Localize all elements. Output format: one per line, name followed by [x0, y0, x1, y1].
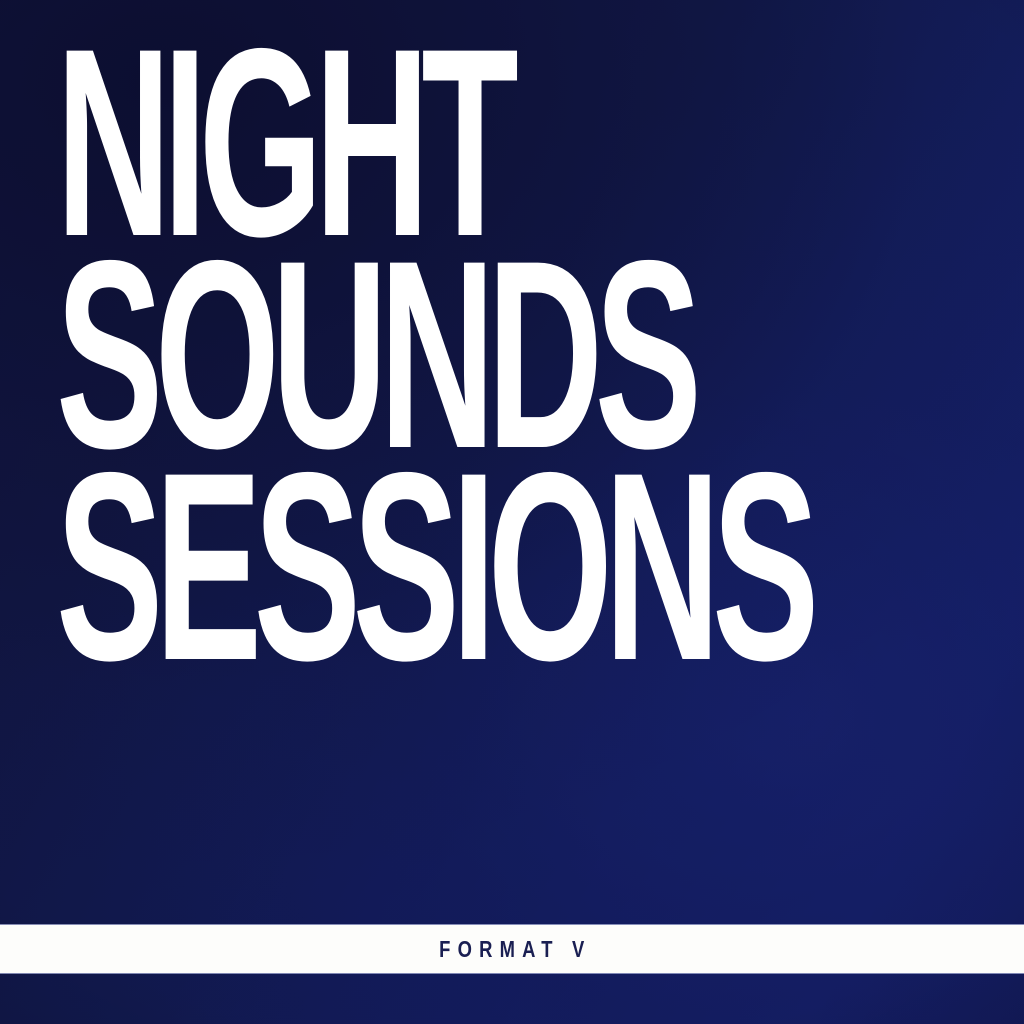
album-title: NIGHT SOUNDS SESSIONS [56, 36, 916, 672]
format-label: FORMAT V [432, 936, 592, 963]
format-band: FORMAT V [0, 925, 1024, 973]
album-cover: NIGHT SOUNDS SESSIONS FORMAT V [0, 0, 1024, 1024]
album-title-line-3: SESSIONS [56, 460, 572, 672]
